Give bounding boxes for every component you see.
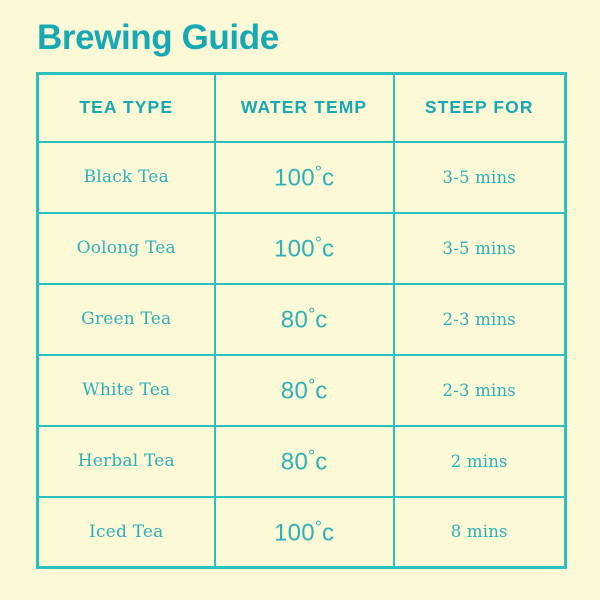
column-header-tea-type: TEA TYPE [38, 74, 215, 142]
brewing-guide-page: Brewing Guide TEA TYPE WATER TEMP STEEP … [0, 0, 600, 600]
water-temp-value: 80 [281, 448, 308, 475]
cell-tea-type: Black Tea [38, 142, 215, 213]
cell-water-temp: 80°c [215, 426, 394, 497]
cell-steep-for: 2-3 mins [394, 284, 566, 355]
cell-tea-type: White Tea [38, 355, 215, 426]
degree-symbol-icon: ° [315, 233, 322, 253]
table-body: Black Tea100°c3-5 minsOolong Tea100°c3-5… [38, 142, 566, 568]
water-temp-unit: c [322, 235, 334, 262]
brewing-guide-table: TEA TYPE WATER TEMP STEEP FOR Black Tea1… [36, 72, 567, 569]
cell-steep-for: 3-5 mins [394, 142, 566, 213]
table-row: Iced Tea100°c8 mins [38, 497, 566, 568]
cell-water-temp: 100°c [215, 142, 394, 213]
water-temp-value: 100 [274, 519, 315, 546]
page-title: Brewing Guide [37, 18, 279, 58]
cell-tea-type: Herbal Tea [38, 426, 215, 497]
cell-tea-type: Oolong Tea [38, 213, 215, 284]
cell-water-temp: 80°c [215, 284, 394, 355]
cell-steep-for: 3-5 mins [394, 213, 566, 284]
degree-symbol-icon: ° [315, 162, 322, 182]
table-header-row: TEA TYPE WATER TEMP STEEP FOR [38, 74, 566, 142]
cell-tea-type: Iced Tea [38, 497, 215, 568]
degree-symbol-icon: ° [315, 517, 322, 537]
table-row: White Tea80°c2-3 mins [38, 355, 566, 426]
cell-water-temp: 100°c [215, 213, 394, 284]
water-temp-value: 80 [281, 377, 308, 404]
water-temp-unit: c [315, 306, 327, 333]
water-temp-unit: c [322, 164, 334, 191]
cell-water-temp: 80°c [215, 355, 394, 426]
table-row: Black Tea100°c3-5 mins [38, 142, 566, 213]
table-row: Oolong Tea100°c3-5 mins [38, 213, 566, 284]
table-row: Herbal Tea80°c2 mins [38, 426, 566, 497]
water-temp-unit: c [322, 519, 334, 546]
water-temp-value: 100 [274, 235, 315, 262]
water-temp-value: 100 [274, 164, 315, 191]
column-header-steep-for: STEEP FOR [394, 74, 566, 142]
column-header-water-temp: WATER TEMP [215, 74, 394, 142]
water-temp-value: 80 [281, 306, 308, 333]
table-row: Green Tea80°c2-3 mins [38, 284, 566, 355]
water-temp-unit: c [315, 448, 327, 475]
cell-steep-for: 2 mins [394, 426, 566, 497]
cell-water-temp: 100°c [215, 497, 394, 568]
table-header: TEA TYPE WATER TEMP STEEP FOR [38, 74, 566, 142]
cell-steep-for: 2-3 mins [394, 355, 566, 426]
water-temp-unit: c [315, 377, 327, 404]
cell-tea-type: Green Tea [38, 284, 215, 355]
cell-steep-for: 8 mins [394, 497, 566, 568]
